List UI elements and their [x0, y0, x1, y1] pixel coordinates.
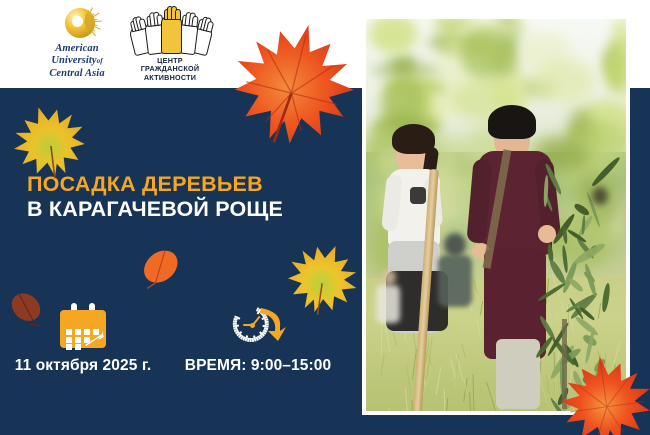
event-time-label: ВРЕМЯ: 9:00–15:00 [168, 357, 348, 375]
cga-logo-text: ЦЕНТР ГРАЖДАНСКОЙ АКТИВНОСТИ [128, 57, 212, 82]
auca-logo-text: American Universityof Central Asia [33, 43, 121, 80]
clock-arrow-icon [256, 305, 286, 345]
page-title: ПОСАДКА ДЕРЕВЬЕВ В КАРАГАЧЕВОЙ РОЩЕ [27, 172, 347, 222]
cga-line-3: АКТИВНОСТИ [128, 74, 212, 82]
raised-hands-icon [134, 8, 206, 54]
clock-icon [229, 303, 287, 348]
auca-line-3: Central Asia [33, 68, 121, 80]
event-date-label: 11 октября 2025 г. [8, 357, 158, 375]
auca-logo: American Universityof Central Asia [33, 7, 121, 85]
cga-logo: ЦЕНТР ГРАЖДАНСКОЙ АКТИВНОСТИ [128, 8, 212, 84]
calendar-icon [60, 303, 106, 348]
headline-line-1: ПОСАДКА ДЕРЕВЬЕВ [27, 172, 347, 197]
headline-line-2: В КАРАГАЧЕВОЙ РОЩЕ [27, 197, 347, 222]
sun-emblem-icon [54, 7, 100, 41]
maple-leaf-red-bottom [550, 346, 650, 435]
auca-line-1: American [33, 43, 121, 55]
poster-canvas: American Universityof Central Asia ЦЕНТР… [0, 0, 650, 435]
calendar-swoosh-icon [84, 331, 104, 346]
auca-line-2: Universityof [33, 55, 121, 67]
